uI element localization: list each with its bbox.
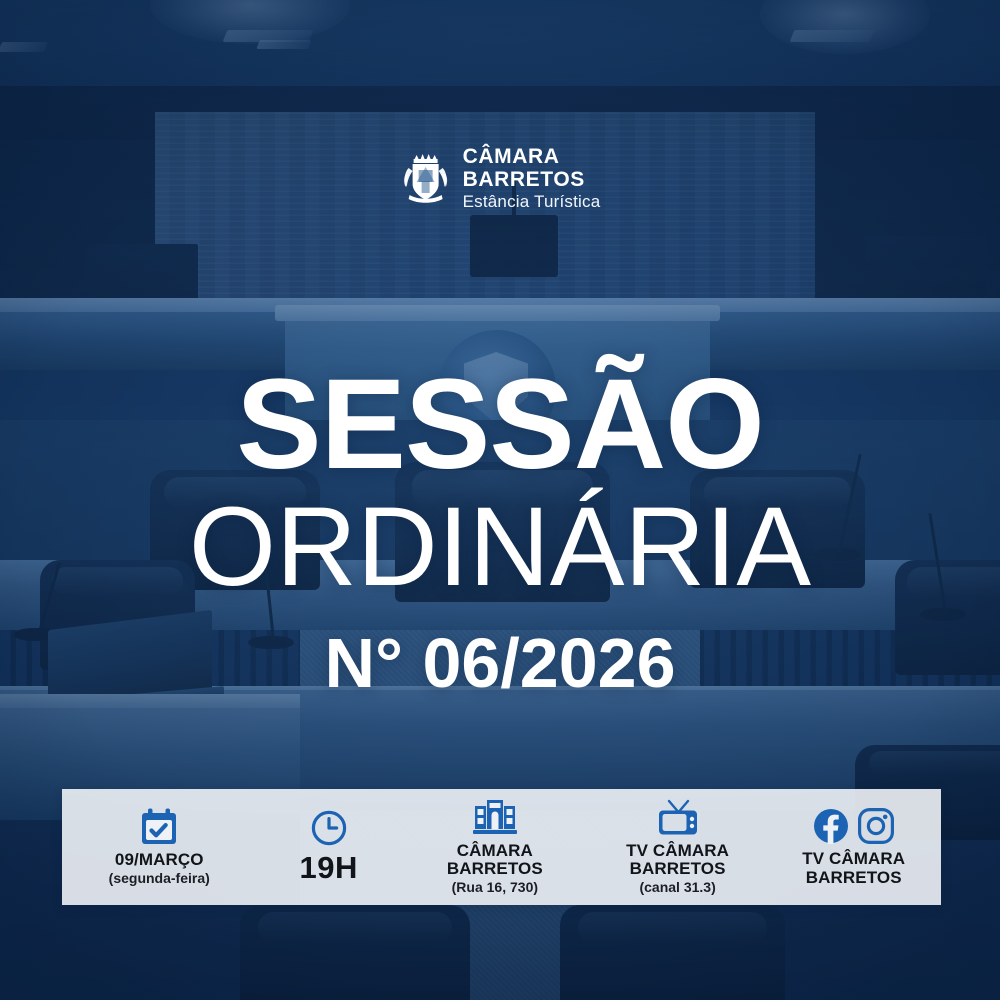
date-value: 09/MARÇO bbox=[115, 851, 204, 869]
logo-line-camara: CÂMARA bbox=[463, 146, 601, 167]
camara-barretos-logo: CÂMARA BARRETOS Estância Turística bbox=[400, 146, 601, 210]
info-cell-social: TV CÂMARA BARRETOS bbox=[767, 789, 941, 905]
social-name-line2: BARRETOS bbox=[806, 869, 902, 887]
logo-line-barretos: BARRETOS bbox=[463, 169, 601, 190]
clock-icon bbox=[310, 809, 348, 847]
info-cell-location: CÂMARA BARRETOS (Rua 16, 730) bbox=[401, 789, 589, 905]
event-details-bar: 09/MARÇO (segunda-feira) 19H bbox=[62, 789, 941, 905]
info-cell-tv-channel: TV CÂMARA BARRETOS (canal 31.3) bbox=[589, 789, 767, 905]
location-name-line1: CÂMARA bbox=[457, 842, 533, 860]
weekday-value: (segunda-feira) bbox=[109, 871, 210, 886]
logo-wordmark: CÂMARA BARRETOS Estância Turística bbox=[463, 146, 601, 210]
coat-of-arms-icon bbox=[400, 150, 452, 206]
social-name-line1: TV CÂMARA bbox=[802, 850, 905, 868]
poster-title-block: SESSÃO ORDINÁRIA N° 06/2026 bbox=[0, 366, 1000, 698]
title-line-ordinaria: ORDINÁRIA bbox=[0, 490, 1000, 604]
calendar-check-icon bbox=[139, 807, 179, 847]
info-cell-date: 09/MARÇO (segunda-feira) bbox=[62, 789, 256, 905]
building-icon-wrap bbox=[473, 797, 517, 839]
session-announcement-poster: CÂMARA BARRETOS Estância Turística SESSÃ… bbox=[0, 0, 1000, 1000]
time-value: 19H bbox=[300, 852, 358, 885]
social-row bbox=[813, 808, 894, 844]
location-name-line2: BARRETOS bbox=[447, 860, 543, 878]
calendar-check-icon-wrap bbox=[139, 806, 179, 848]
session-number: N° 06/2026 bbox=[0, 628, 1000, 698]
television-icon-wrap bbox=[656, 797, 700, 839]
tv-channel: (canal 31.3) bbox=[639, 880, 715, 895]
title-line-sessao: SESSÃO bbox=[0, 366, 1000, 484]
instagram-icon[interactable] bbox=[858, 808, 894, 844]
television-icon bbox=[656, 798, 700, 838]
tv-name-line2: BARRETOS bbox=[630, 860, 726, 878]
facebook-icon[interactable] bbox=[813, 808, 849, 844]
tv-name-line1: TV CÂMARA bbox=[626, 842, 729, 860]
info-cell-time: 19H bbox=[256, 789, 401, 905]
building-icon bbox=[473, 798, 517, 838]
location-address: (Rua 16, 730) bbox=[452, 880, 538, 895]
clock-icon-wrap bbox=[310, 807, 348, 849]
social-icons-wrap bbox=[813, 805, 894, 847]
logo-tagline: Estância Turística bbox=[463, 193, 601, 210]
